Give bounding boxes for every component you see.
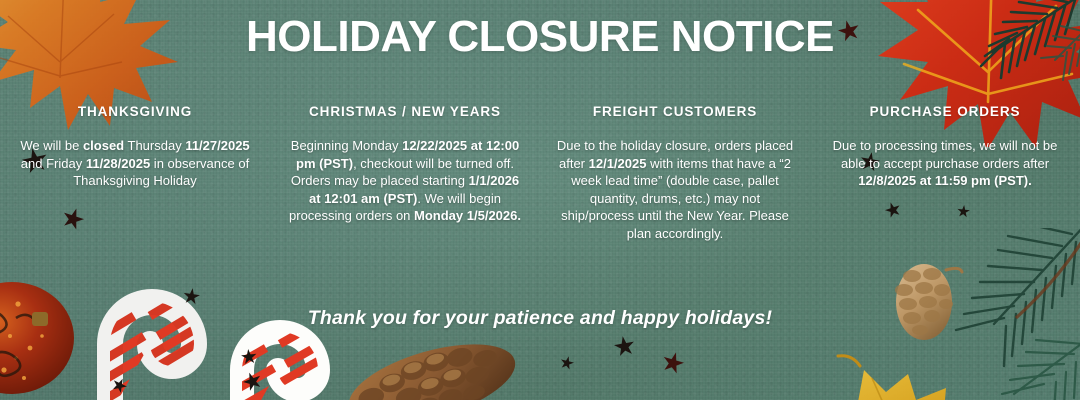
column-heading-freight-customers: FREIGHT CUSTOMERS xyxy=(554,104,796,119)
column-body-purchase-orders: Due to processing times, we will not be … xyxy=(824,137,1066,190)
banner-content: HOLIDAY CLOSURE NOTICE THANKSGIVING We w… xyxy=(0,0,1080,400)
column-heading-purchase-orders: PURCHASE ORDERS xyxy=(824,104,1066,119)
column-body-christmas-new-years: Beginning Monday 12/22/2025 at 12:00 pm … xyxy=(284,137,526,225)
notice-column-purchase-orders: PURCHASE ORDERS Due to processing times,… xyxy=(810,104,1080,190)
notice-column-thanksgiving: THANKSGIVING We will be closed Thursday … xyxy=(0,104,270,190)
holiday-closure-banner: HOLIDAY CLOSURE NOTICE THANKSGIVING We w… xyxy=(0,0,1080,400)
notice-column-freight-customers: FREIGHT CUSTOMERS Due to the holiday clo… xyxy=(540,104,810,242)
closing-message: Thank you for your patience and happy ho… xyxy=(0,307,1080,330)
notice-columns: THANKSGIVING We will be closed Thursday … xyxy=(0,104,1080,242)
column-body-thanksgiving: We will be closed Thursday 11/27/2025 an… xyxy=(14,137,256,190)
column-heading-christmas-new-years: CHRISTMAS / NEW YEARS xyxy=(284,104,526,119)
column-body-freight-customers: Due to the holiday closure, orders place… xyxy=(554,137,796,242)
page-title: HOLIDAY CLOSURE NOTICE xyxy=(0,14,1080,60)
column-heading-thanksgiving: THANKSGIVING xyxy=(14,104,256,119)
notice-column-christmas-new-years: CHRISTMAS / NEW YEARS Beginning Monday 1… xyxy=(270,104,540,225)
